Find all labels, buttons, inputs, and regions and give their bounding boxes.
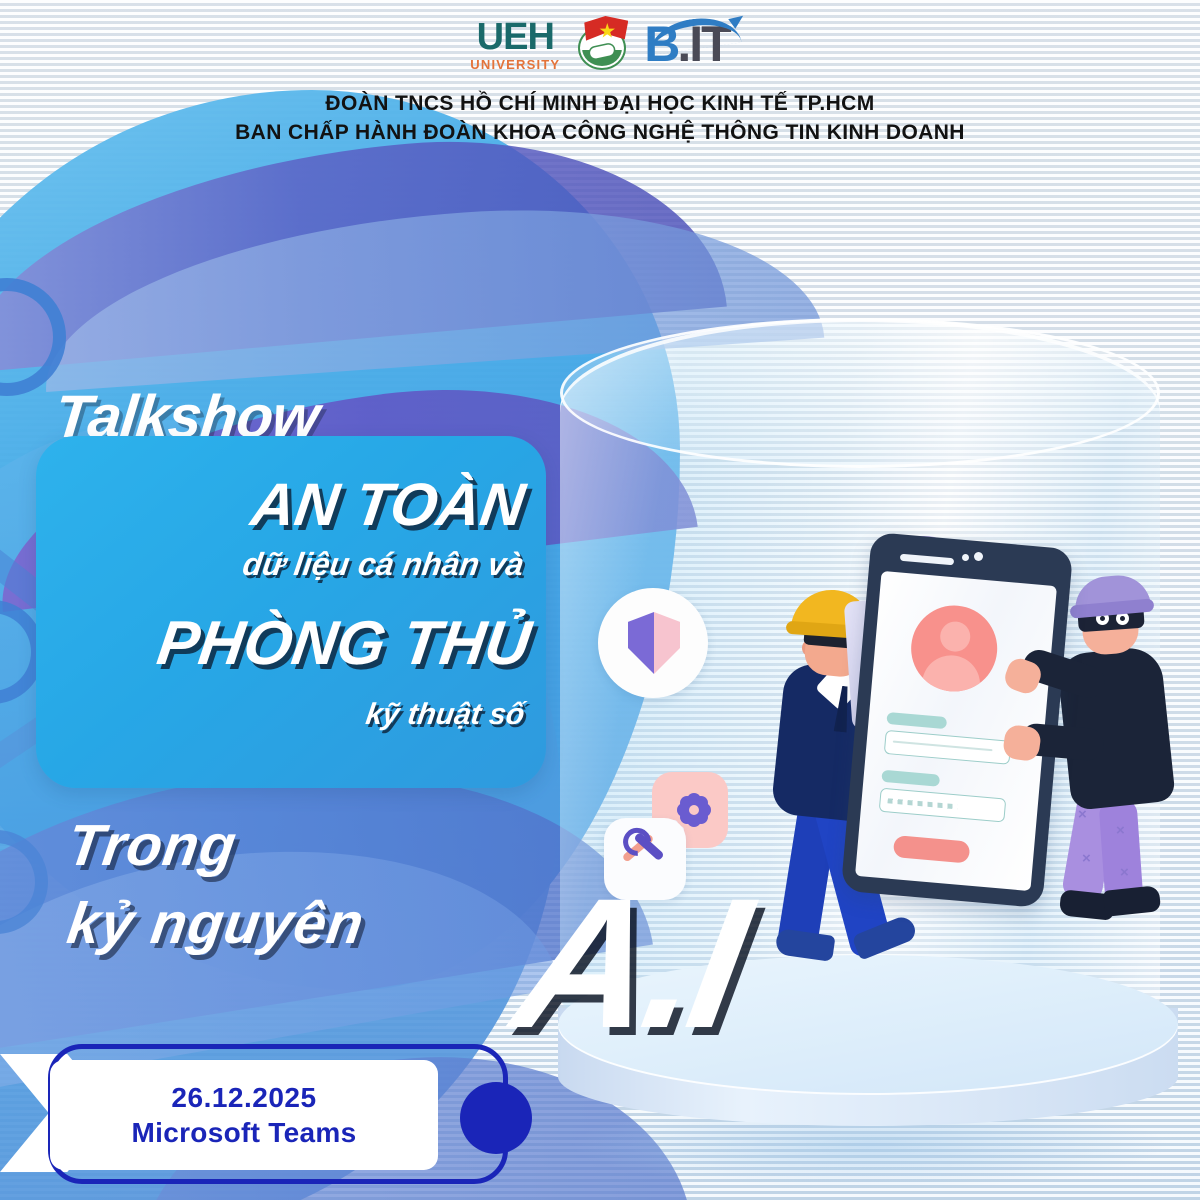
title-card: AN TOÀN dữ liệu cá nhân và PHÒNG THỦ kỹ …	[36, 436, 546, 788]
title-line-2: dữ liệu cá nhân và	[241, 546, 527, 583]
podium-shadow	[570, 1100, 1170, 1190]
thief-pattern-x-1: ×	[1078, 806, 1087, 823]
badge-dot-icon	[460, 1082, 532, 1154]
avatar-body	[921, 653, 983, 695]
thief-pattern-x-2: ×	[1116, 822, 1125, 839]
thief-boot-front	[1103, 885, 1161, 917]
title-line-1: AN TOÀN	[247, 470, 529, 539]
avatar	[908, 602, 1001, 695]
title-line-5: Trong	[63, 812, 241, 879]
poster-canvas: UEH UNIVERSITY B .IT ĐOÀN TNCS HỒ CHÍ MI…	[0, 0, 1200, 1200]
login-submit-button[interactable]	[893, 835, 971, 864]
avatar-head	[939, 620, 972, 653]
event-info-badge: 26.12.2025 Microsoft Teams	[0, 1040, 560, 1190]
thief-pattern-x-4: ×	[1120, 864, 1129, 881]
glass-cylinder-rim	[560, 318, 1160, 468]
title-line-3: PHÒNG THỦ	[153, 608, 535, 679]
title-line-4: kỹ thuật số	[363, 698, 526, 732]
password-label	[881, 770, 940, 787]
thief-pattern-x-3: ×	[1082, 850, 1091, 867]
title-card-text: AN TOÀN dữ liệu cá nhân và PHÒNG THỦ kỹ …	[36, 436, 546, 788]
event-date: 26.12.2025	[171, 1082, 316, 1114]
tablet-camera-2	[974, 552, 983, 561]
tablet-camera-1	[962, 554, 969, 561]
badge-content: 26.12.2025 Microsoft Teams	[50, 1060, 438, 1170]
username-label	[886, 712, 947, 729]
title-highlight-ai: A.I	[504, 872, 755, 1057]
bit-logo: B .IT	[644, 15, 729, 73]
event-platform: Microsoft Teams	[132, 1117, 357, 1149]
title-line-6: kỷ nguyên	[63, 890, 368, 957]
gear-icon	[680, 796, 708, 824]
worker-shoe-back	[774, 928, 835, 962]
